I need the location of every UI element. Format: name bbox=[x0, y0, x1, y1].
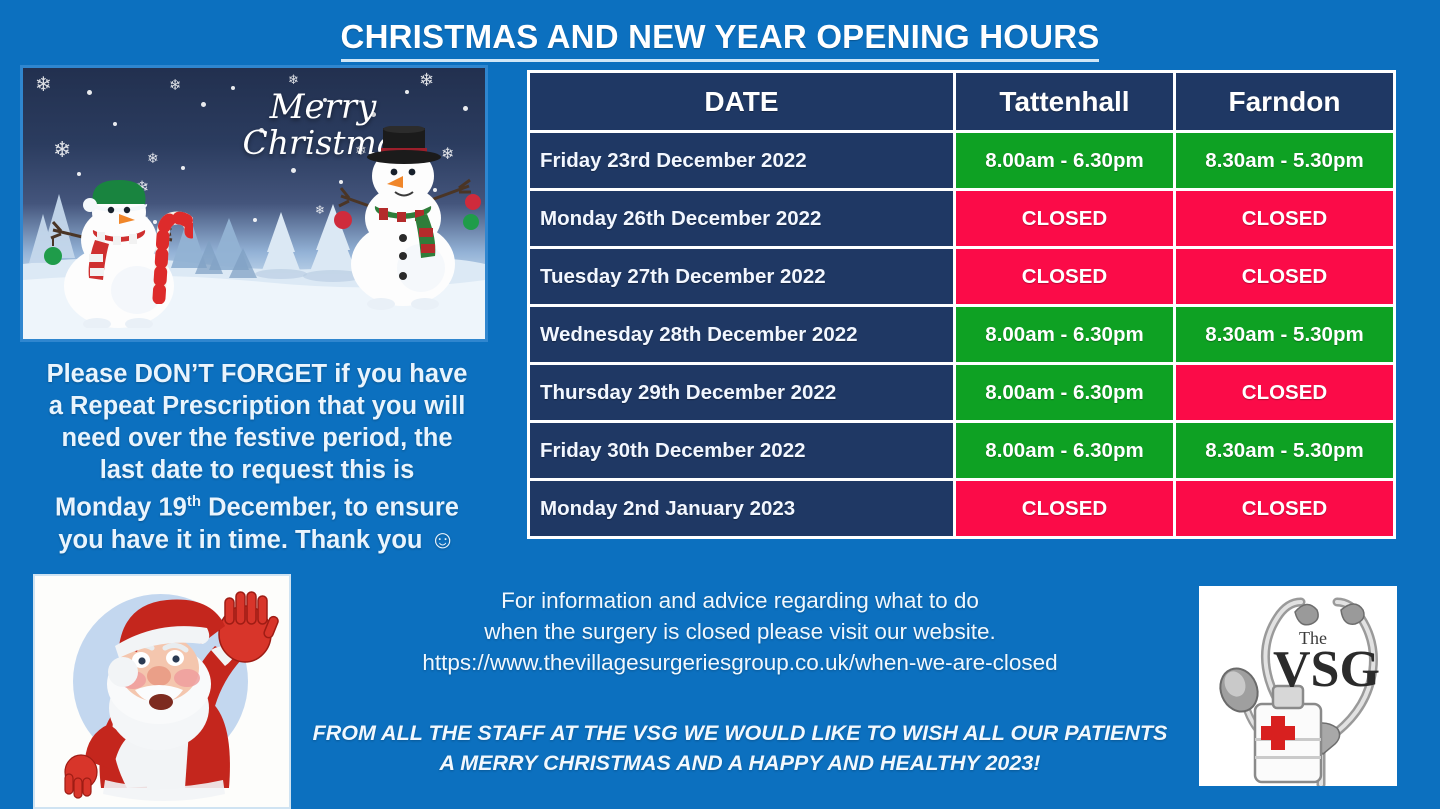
table-header-row: DATE Tattenhall Farndon bbox=[530, 73, 1393, 130]
snow-dot bbox=[259, 128, 264, 133]
santa-image-card bbox=[33, 574, 291, 809]
snow-scene-background: ❄ ❄ ❄ ❄ ❄ ❄ ❄ ❄ ❄ ❄ Merry Christmas bbox=[23, 68, 485, 339]
cell-date: Thursday 29th December 2022 bbox=[530, 365, 953, 420]
column-header-date: DATE bbox=[530, 73, 953, 130]
snow-dot bbox=[181, 166, 185, 170]
cell-date: Wednesday 28th December 2022 bbox=[530, 307, 953, 362]
snowman-green-hat bbox=[31, 178, 241, 328]
vsg-logo-card: The VSG bbox=[1199, 586, 1397, 786]
cell-tattenhall-hours: 8.00am - 6.30pm bbox=[956, 307, 1173, 362]
wish-line-1: FROM ALL THE STAFF AT THE VSG WE WOULD L… bbox=[250, 718, 1230, 748]
ordinal-suffix: th bbox=[187, 493, 201, 510]
note-line-5: Monday 19th December, to ensure bbox=[22, 486, 492, 524]
info-line-1: For information and advice regarding wha… bbox=[370, 585, 1110, 616]
table-row: Monday 26th December 2022CLOSEDCLOSED bbox=[530, 191, 1393, 246]
cell-farndon-hours: CLOSED bbox=[1176, 249, 1393, 304]
cell-farndon-hours: CLOSED bbox=[1176, 481, 1393, 536]
page-title: CHRISTMAS AND NEW YEAR OPENING HOURS bbox=[0, 18, 1440, 62]
snow-dot bbox=[253, 218, 257, 222]
table-row: Friday 30th December 20228.00am - 6.30pm… bbox=[530, 423, 1393, 478]
snow-dot bbox=[323, 98, 327, 102]
column-header-tattenhall: Tattenhall bbox=[956, 73, 1173, 130]
snowflake-icon: ❄ bbox=[169, 78, 182, 93]
wish-line-2: A MERRY CHRISTMAS AND A HAPPY AND HEALTH… bbox=[250, 748, 1230, 778]
note-line-1b: if you have bbox=[327, 360, 467, 388]
cell-farndon-hours: CLOSED bbox=[1176, 365, 1393, 420]
table-row: Thursday 29th December 20228.00am - 6.30… bbox=[530, 365, 1393, 420]
info-line-2: when the surgery is closed please visit … bbox=[370, 616, 1110, 647]
note-line-3: need over the festive period, the bbox=[22, 422, 492, 454]
note-line-1a: Please bbox=[47, 360, 135, 388]
vsg-stethoscope-logo-icon: The VSG bbox=[1199, 586, 1397, 786]
cell-date: Tuesday 27th December 2022 bbox=[530, 249, 953, 304]
snow-dot bbox=[405, 90, 409, 94]
cell-date: Monday 2nd January 2023 bbox=[530, 481, 953, 536]
note-line-6: you have it in time. Thank you ☺ bbox=[22, 524, 492, 556]
snowman-top-hat bbox=[319, 126, 488, 311]
table-row: Tuesday 27th December 2022CLOSEDCLOSED bbox=[530, 249, 1393, 304]
snowflake-icon: ❄ bbox=[147, 152, 159, 166]
snow-dot bbox=[77, 172, 81, 176]
cell-date: Monday 26th December 2022 bbox=[530, 191, 953, 246]
snow-dot bbox=[463, 106, 468, 111]
note-line-2: a Repeat Prescription that you will bbox=[22, 390, 492, 422]
note-line-5a: Monday 19 bbox=[55, 494, 187, 522]
cell-tattenhall-hours: 8.00am - 6.30pm bbox=[956, 133, 1173, 188]
cell-tattenhall-hours: CLOSED bbox=[956, 191, 1173, 246]
cell-date: Friday 30th December 2022 bbox=[530, 423, 953, 478]
cell-farndon-hours: CLOSED bbox=[1176, 191, 1393, 246]
note-line-1: Please DON’T FORGET if you have bbox=[22, 358, 492, 390]
page-title-text: CHRISTMAS AND NEW YEAR OPENING HOURS bbox=[341, 18, 1100, 62]
cell-date: Friday 23rd December 2022 bbox=[530, 133, 953, 188]
cell-farndon-hours: 8.30am - 5.30pm bbox=[1176, 423, 1393, 478]
snow-dot bbox=[231, 86, 235, 90]
opening-hours-table: DATE Tattenhall Farndon Friday 23rd Dece… bbox=[527, 70, 1396, 539]
table-row: Monday 2nd January 2023CLOSEDCLOSED bbox=[530, 481, 1393, 536]
waving-santa-icon bbox=[35, 576, 289, 807]
note-line-5b: December, to ensure bbox=[201, 494, 459, 522]
table-row: Wednesday 28th December 20228.00am - 6.3… bbox=[530, 307, 1393, 362]
candy-cane-icon bbox=[143, 194, 193, 304]
snow-dot bbox=[201, 102, 206, 107]
repeat-prescription-note: Please DON’T FORGET if you have a Repeat… bbox=[22, 358, 492, 556]
snowflake-icon: ❄ bbox=[419, 72, 434, 90]
website-url[interactable]: https://www.thevillagesurgeriesgroup.co.… bbox=[370, 647, 1110, 678]
snowflake-icon: ❄ bbox=[288, 74, 299, 87]
cell-farndon-hours: 8.30am - 5.30pm bbox=[1176, 307, 1393, 362]
closed-info-block: For information and advice regarding wha… bbox=[370, 585, 1110, 678]
table-row: Friday 23rd December 20228.00am - 6.30pm… bbox=[530, 133, 1393, 188]
cell-tattenhall-hours: CLOSED bbox=[956, 249, 1173, 304]
cell-farndon-hours: 8.30am - 5.30pm bbox=[1176, 133, 1393, 188]
cell-tattenhall-hours: CLOSED bbox=[956, 481, 1173, 536]
cell-tattenhall-hours: 8.00am - 6.30pm bbox=[956, 365, 1173, 420]
snow-dot bbox=[371, 112, 376, 117]
snowflake-icon: ❄ bbox=[35, 74, 52, 94]
note-line-4: last date to request this is bbox=[22, 454, 492, 486]
note-line-1-emphasis: DON’T FORGET bbox=[134, 360, 327, 388]
snowflake-icon: ❄ bbox=[53, 140, 71, 162]
vsg-initials-text: VSG bbox=[1273, 641, 1380, 698]
snow-dot bbox=[87, 90, 92, 95]
merry-christmas-image: ❄ ❄ ❄ ❄ ❄ ❄ ❄ ❄ ❄ ❄ Merry Christmas bbox=[20, 65, 488, 342]
snow-dot bbox=[291, 168, 296, 173]
column-header-farndon: Farndon bbox=[1176, 73, 1393, 130]
seasonal-wish-block: FROM ALL THE STAFF AT THE VSG WE WOULD L… bbox=[250, 718, 1230, 778]
snow-dot bbox=[113, 122, 117, 126]
cell-tattenhall-hours: 8.00am - 6.30pm bbox=[956, 423, 1173, 478]
